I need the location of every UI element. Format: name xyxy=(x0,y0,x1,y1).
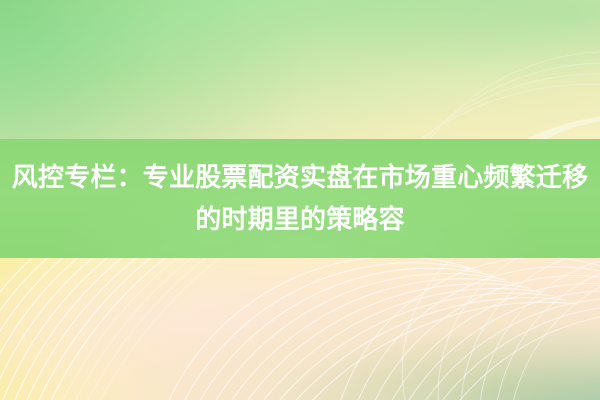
top-band-right-green-tint xyxy=(0,0,600,140)
top-gradient-band xyxy=(0,0,600,140)
banner-headline: 风控专栏：专业股票配资实盘在市场重心频繁迁移 的时期里的策略容 xyxy=(0,139,600,258)
bottom-gradient-band xyxy=(0,258,600,400)
promo-banner: 风控专栏：专业股票配资实盘在市场重心频繁迁移 的时期里的策略容 xyxy=(0,0,600,400)
headline-line-1: 风控专栏：专业股票配资实盘在市场重心频繁迁移 xyxy=(12,159,588,197)
headline-line-2: 的时期里的策略容 xyxy=(195,201,405,239)
bottom-band-teal-corner-tint xyxy=(0,258,600,400)
